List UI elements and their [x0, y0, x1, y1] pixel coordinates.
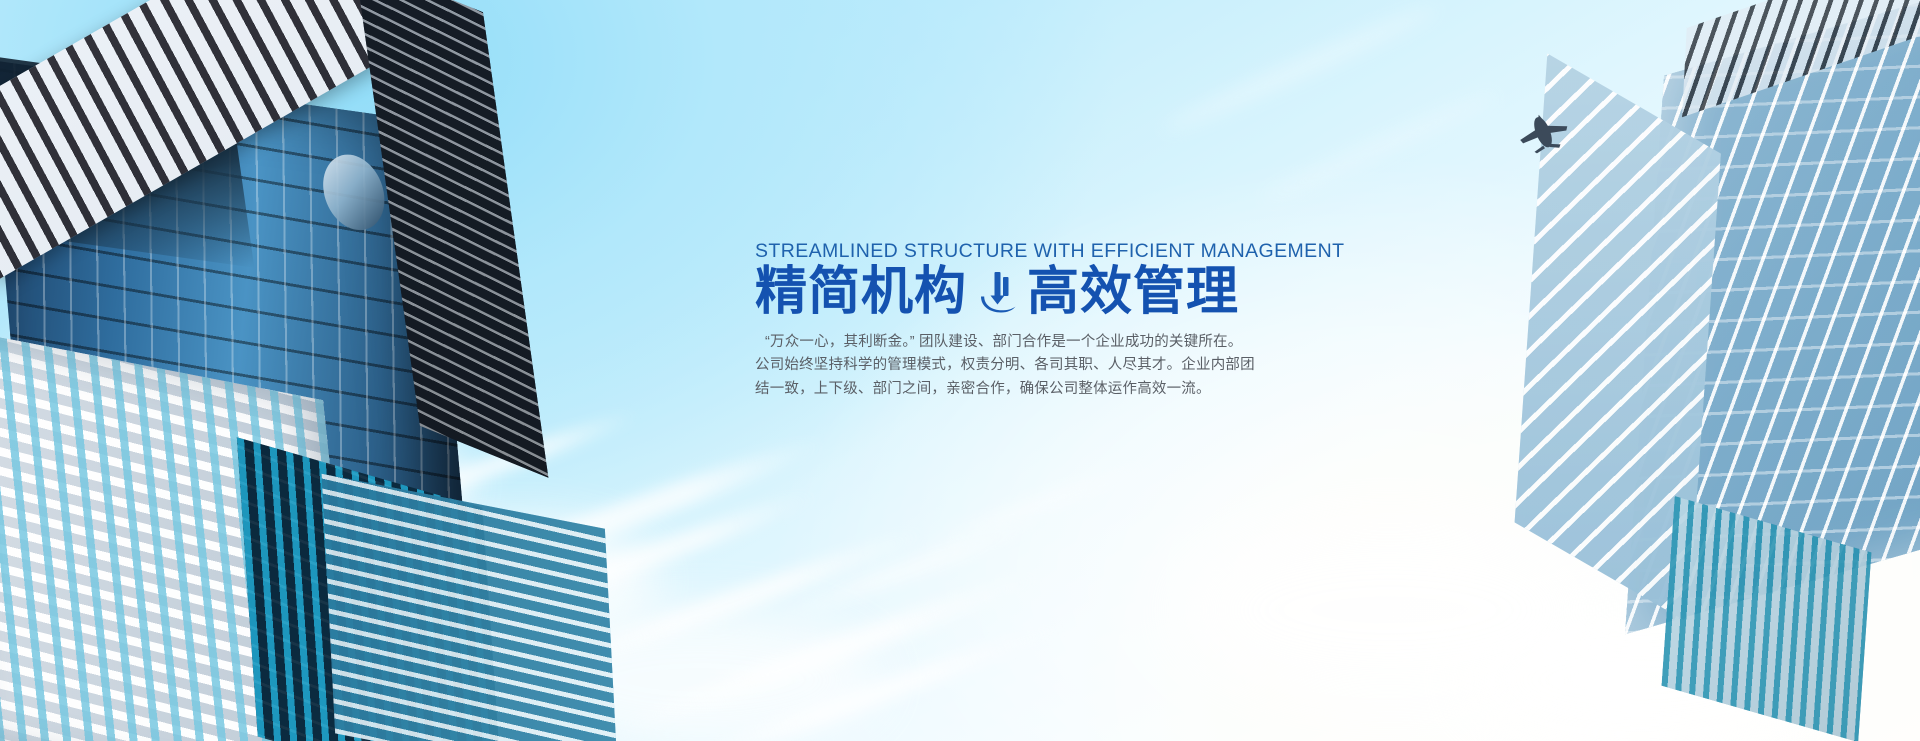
banner-copy: STREAMLINED STRUCTURE WITH EFFICIENT MAN… — [755, 240, 1285, 401]
headline-left-text: 精简机构 — [755, 264, 967, 320]
description-line-2: 公司始终坚持科学的管理模式，权责分明、各司其职、人尽其才。企业内部团 — [755, 354, 1285, 377]
description-line-3: 结一致，上下级、部门之间，亲密合作，确保公司整体运作高效一流。 — [755, 378, 1285, 401]
banner-description: “万众一心，其利断金。” 团队建设、部门合作是一个企业成功的关键所在。 公司始终… — [755, 331, 1285, 401]
banner-headline: 精简机构 高效管理 — [755, 264, 1285, 320]
banner-tagline: STREAMLINED STRUCTURE WITH EFFICIENT MAN… — [755, 240, 1285, 262]
glass-skyscraper-right — [1438, 0, 1920, 617]
hero-banner: STREAMLINED STRUCTURE WITH EFFICIENT MAN… — [0, 0, 1920, 741]
company-logo-mark-icon — [977, 270, 1017, 316]
description-line-1: “万众一心，其利断金。” 团队建设、部门合作是一个企业成功的关键所在。 — [755, 331, 1285, 354]
headline-right-text: 高效管理 — [1027, 264, 1239, 320]
city-tower-glass — [323, 492, 656, 741]
